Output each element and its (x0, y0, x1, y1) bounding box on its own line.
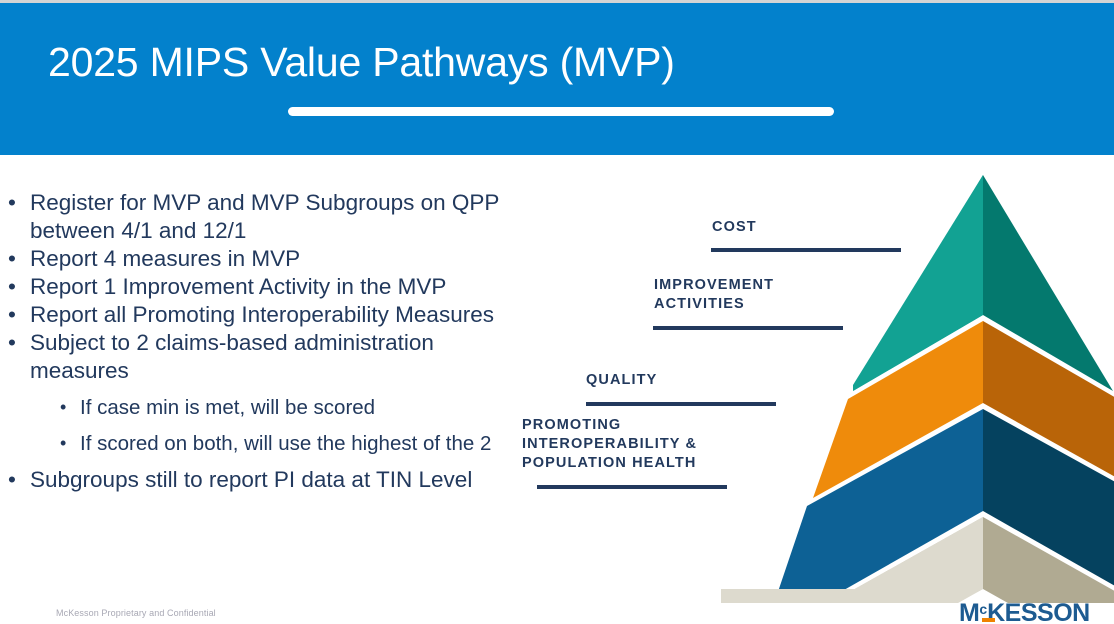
list-item-text: Report 1 Improvement Activity in the MVP (30, 273, 518, 301)
pyramid-label-cost: COST (712, 218, 912, 252)
bullet-marker-icon: • (8, 245, 30, 273)
logo-text-superscript: c (979, 601, 987, 617)
pyramid-label-pi-rule (537, 485, 727, 489)
list-item: • Register for MVP and MVP Subgroups on … (8, 189, 518, 245)
list-item-text: Subgroups still to report PI data at TIN… (30, 466, 518, 494)
list-item-text: Report all Promoting Interoperability Me… (30, 301, 518, 329)
bullet-marker-icon: • (8, 273, 30, 301)
pyramid-label-quality-rule (586, 402, 776, 406)
list-item-sub: • If case min is met, will be scored (8, 394, 518, 421)
list-item: • Report 1 Improvement Activity in the M… (8, 273, 518, 301)
pyramid-label-quality-text: QUALITY (586, 371, 816, 390)
list-item-sub: • If scored on both, will use the highes… (8, 430, 518, 457)
pyramid-label-cost-rule (711, 248, 901, 252)
bullet-marker-icon: • (8, 466, 30, 494)
logo-text-part1: M (959, 599, 979, 624)
bullet-marker-icon: • (8, 301, 30, 329)
pyramid-label-ia-line2: ACTIVITIES (654, 295, 879, 314)
pyramid-label-pi-line1: PROMOTING (522, 416, 767, 435)
bullet-list: • Register for MVP and MVP Subgroups on … (8, 189, 518, 494)
pyramid-label-quality: QUALITY (586, 371, 816, 406)
bullet-marker-icon: • (60, 394, 80, 421)
list-item-text: If case min is met, will be scored (80, 394, 518, 421)
bullet-marker-icon: • (8, 189, 30, 217)
pyramid-label-pi-line2: INTEROPERABILITY & (522, 435, 767, 454)
logo-text-part2: KESSON (987, 599, 1090, 624)
pyramid-label-cost-text: COST (712, 218, 912, 237)
bullet-marker-icon: • (60, 430, 80, 457)
mckesson-logo: McKESSON (959, 599, 1090, 624)
pyramid-label-pi-line3: POPULATION HEALTH (522, 454, 767, 473)
page-title: 2025 MIPS Value Pathways (MVP) (48, 39, 675, 86)
list-item-text: Report 4 measures in MVP (30, 245, 518, 273)
slide-header-band: 2025 MIPS Value Pathways (MVP) (0, 3, 1114, 155)
list-item: • Subject to 2 claims-based administrati… (8, 329, 518, 385)
slide-canvas: 2025 MIPS Value Pathways (MVP) • Registe… (0, 0, 1114, 624)
list-item: • Report all Promoting Interoperability … (8, 301, 518, 329)
pyramid-label-improvement-activities: IMPROVEMENT ACTIVITIES (654, 276, 879, 330)
pyramid-label-ia-line1: IMPROVEMENT (654, 276, 879, 295)
list-item-text: If scored on both, will use the highest … (80, 430, 518, 457)
title-underline-rule (288, 107, 834, 116)
list-item-text: Subject to 2 claims-based administration… (30, 329, 518, 385)
pyramid-label-ia-rule (653, 326, 843, 330)
confidentiality-footer: McKesson Proprietary and Confidential (56, 608, 216, 618)
list-item: • Subgroups still to report PI data at T… (8, 466, 518, 494)
logo-orange-bar-icon (982, 618, 995, 622)
bullet-marker-icon: • (8, 329, 30, 357)
pyramid-label-promoting-interoperability: PROMOTING INTEROPERABILITY & POPULATION … (522, 416, 767, 489)
list-item: • Report 4 measures in MVP (8, 245, 518, 273)
list-item-text: Register for MVP and MVP Subgroups on QP… (30, 189, 518, 245)
